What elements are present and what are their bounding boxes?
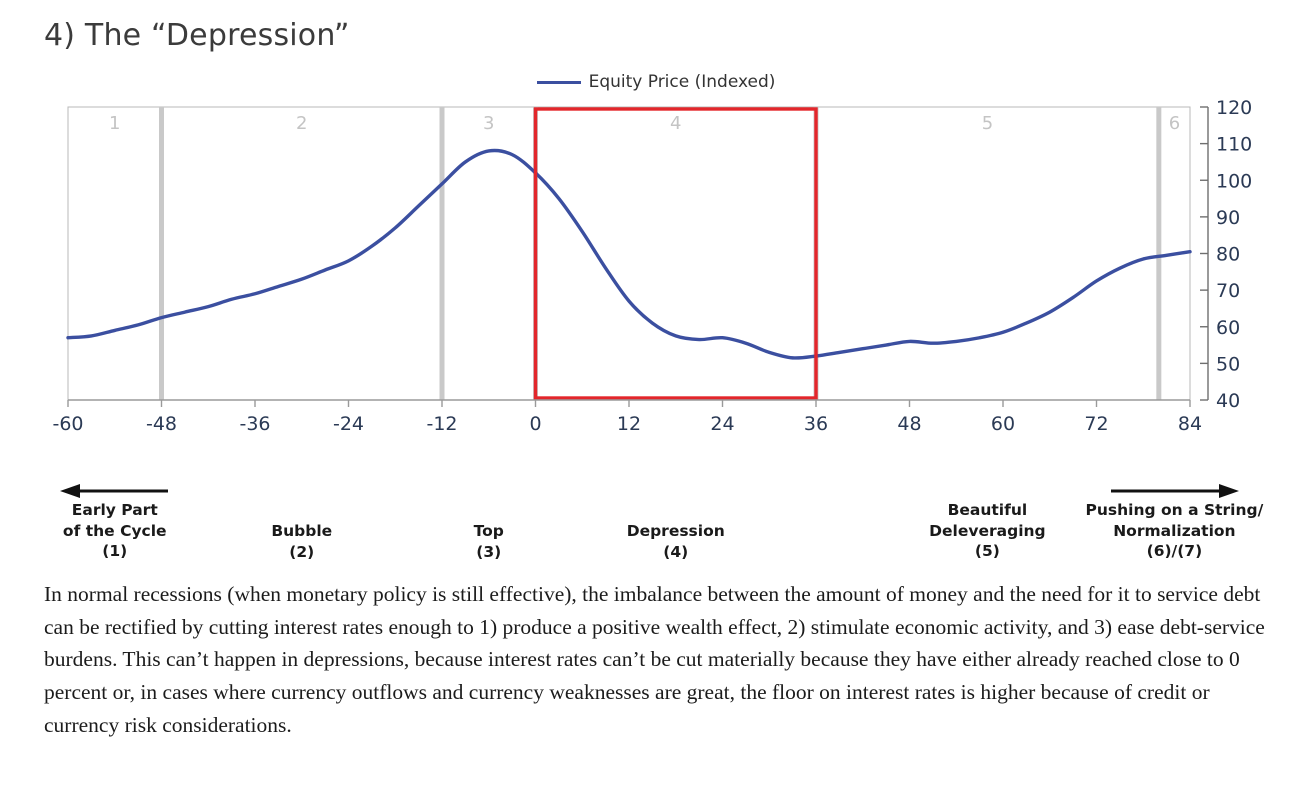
phase-6-label: Pushing on a String/Normalization(6)/(7) (1064, 482, 1284, 562)
svg-text:100: 100 (1216, 170, 1252, 192)
svg-text:70: 70 (1216, 280, 1240, 302)
page-root: 4) The “Depression” Equity Price (Indexe… (0, 0, 1312, 787)
svg-text:50: 50 (1216, 353, 1240, 375)
svg-text:12: 12 (617, 413, 641, 435)
y-axis: 120110100908070605040 (1200, 97, 1252, 412)
arrow-right-icon (1064, 482, 1284, 500)
phase-6-text: Pushing on a String/Normalization(6)/(7) (1064, 500, 1284, 562)
svg-text:60: 60 (1216, 317, 1240, 339)
phase-6-line-2: (6)/(7) (1064, 541, 1284, 562)
svg-text:36: 36 (804, 413, 828, 435)
body-paragraph: In normal recessions (when monetary poli… (44, 578, 1276, 741)
svg-text:60: 60 (991, 413, 1015, 435)
plot-frame (68, 107, 1190, 400)
svg-text:72: 72 (1084, 413, 1108, 435)
svg-text:80: 80 (1216, 244, 1240, 266)
svg-text:40: 40 (1216, 390, 1240, 412)
equity-price-chart: Equity Price (Indexed) 123456 -60-48-36-… (0, 62, 1312, 542)
page-title: 4) The “Depression” (44, 18, 350, 53)
svg-text:0: 0 (529, 413, 541, 435)
svg-text:3: 3 (483, 113, 494, 134)
phase-6-line-1: Normalization (1064, 521, 1284, 542)
svg-text:120: 120 (1216, 97, 1252, 119)
svg-text:-24: -24 (333, 413, 364, 435)
phase-4-text: Depression(4) (566, 500, 786, 562)
svg-text:2: 2 (296, 113, 307, 134)
phase-6-line-0: Pushing on a String/ (1064, 500, 1284, 521)
svg-text:-36: -36 (239, 413, 270, 435)
svg-text:84: 84 (1178, 413, 1202, 435)
svg-text:-12: -12 (426, 413, 457, 435)
svg-text:6: 6 (1169, 113, 1180, 134)
svg-text:-48: -48 (146, 413, 177, 435)
phase-4-line-0: Depression (566, 521, 786, 542)
svg-text:4: 4 (670, 113, 681, 134)
svg-text:5: 5 (982, 113, 993, 134)
svg-text:110: 110 (1216, 134, 1252, 156)
phase-4-label: Depression(4) (566, 482, 786, 562)
svg-text:48: 48 (897, 413, 921, 435)
spacer (566, 482, 786, 500)
x-axis: -60-48-36-24-12012243648607284 (52, 400, 1202, 435)
phase-label-row: Early Partof the Cycle(1)Bubble(2)Top(3)… (0, 452, 1312, 562)
svg-text:24: 24 (710, 413, 734, 435)
phase-4-line-1: (4) (566, 542, 786, 563)
svg-text:90: 90 (1216, 207, 1240, 229)
svg-text:-60: -60 (52, 413, 83, 435)
svg-text:1: 1 (109, 113, 120, 134)
